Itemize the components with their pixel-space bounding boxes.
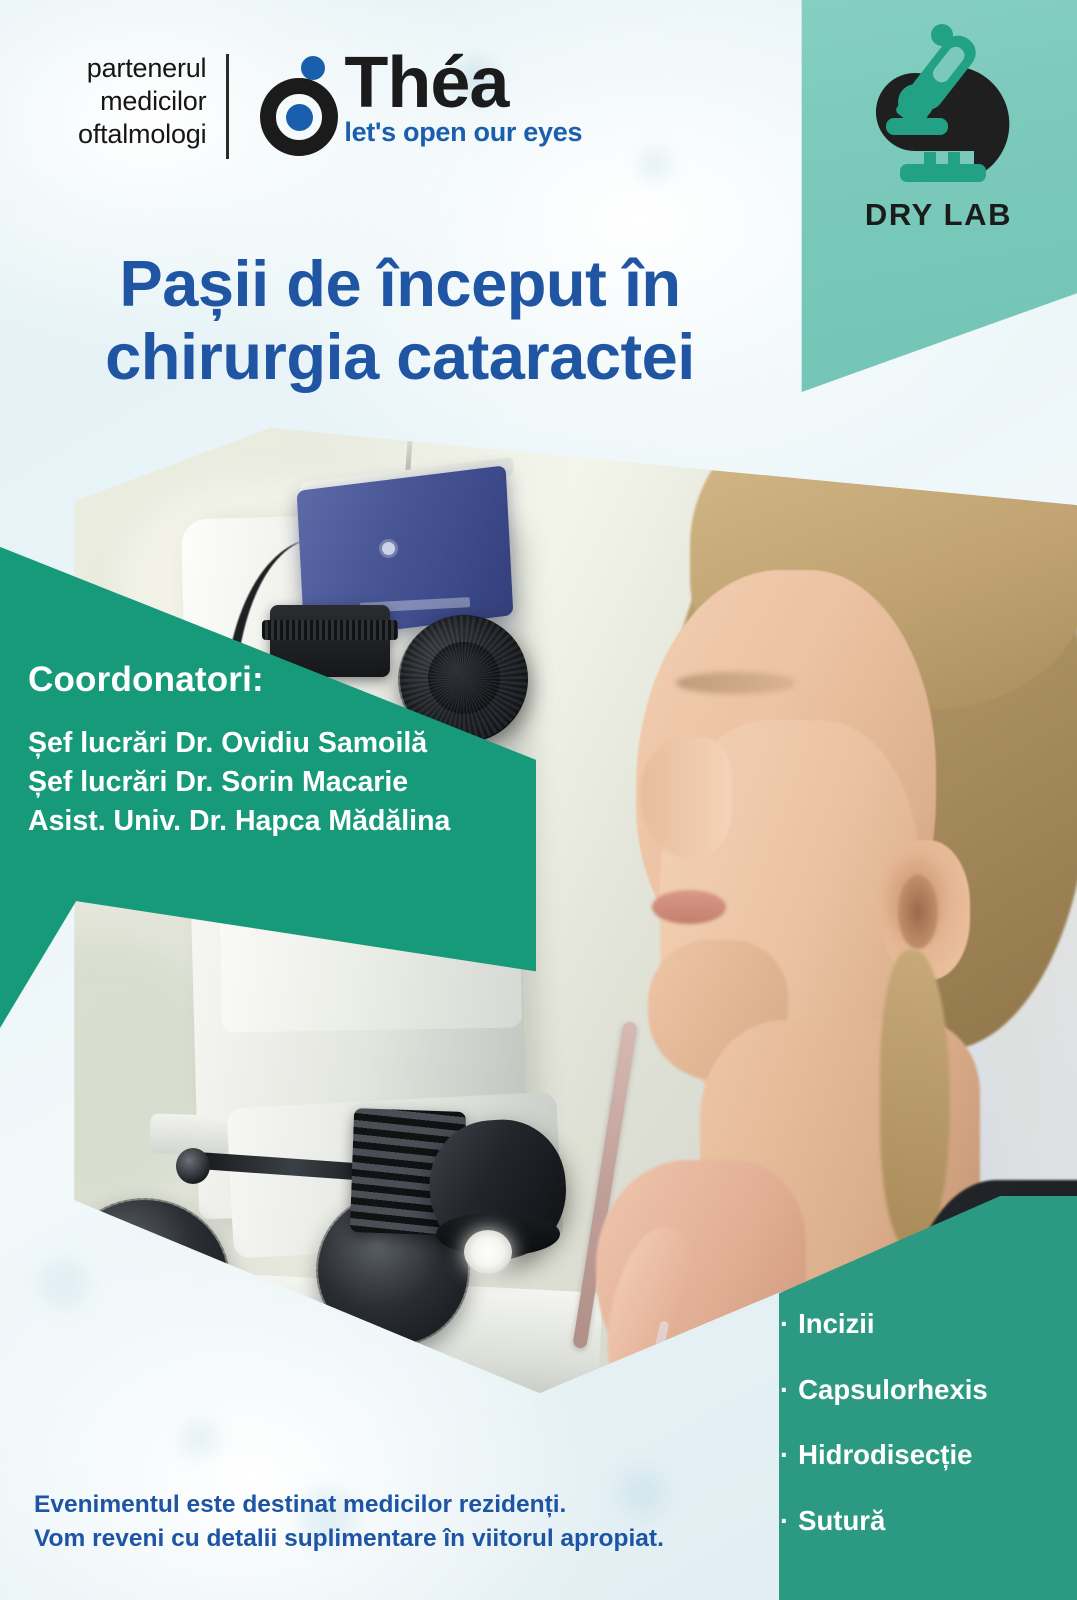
bullet-icon: · — [780, 1308, 789, 1339]
partner-line-1: partenerul — [78, 52, 206, 85]
header-logo-row: partenerul medicilor oftalmologi Théa le… — [78, 52, 582, 159]
coordinator-name: Asist. Univ. Dr. Hapca Mădălina — [28, 802, 528, 841]
step-label: Capsulorhexis — [798, 1374, 988, 1405]
partner-line-3: oftalmologi — [78, 118, 206, 151]
footer-line-1: Evenimentul este destinat medicilor rezi… — [34, 1488, 794, 1522]
dry-lab-content: DRY LAB — [800, 0, 1077, 300]
step-label: Sutură — [798, 1505, 885, 1536]
background-bokeh-dot — [180, 1420, 218, 1458]
background-bokeh-dot — [640, 150, 670, 180]
poster-canvas: DRY LAB partenerul medicilor oftalmologi… — [0, 0, 1077, 1600]
eye-spark-dot — [301, 56, 325, 80]
page-title-line-1: Pașii de început în — [0, 248, 800, 321]
dry-lab-label: DRY LAB — [865, 199, 1012, 230]
lab-blur-blob — [0, 1240, 200, 1410]
microscope-neck-ring — [262, 620, 398, 640]
thea-wordmark: Théa let's open our eyes — [344, 52, 582, 146]
bullet-icon: · — [780, 1439, 789, 1470]
thea-logo[interactable]: Théa let's open our eyes — [229, 52, 582, 157]
microscope-camera-dot — [382, 542, 395, 555]
page-title-line-2: chirurgia cataractei — [0, 321, 800, 394]
coordinators-heading: Coordonatori: — [28, 660, 528, 700]
background-bokeh-dot — [40, 1260, 88, 1308]
eye-icon — [255, 52, 348, 157]
subject-brow — [676, 672, 796, 694]
footer-line-2: Vom reveni cu detalii suplimentare în vi… — [34, 1522, 794, 1556]
footer-note: Evenimentul este destinat medicilor rezi… — [34, 1488, 794, 1556]
step-label: Incizii — [798, 1308, 874, 1339]
coordinator-name: Șef lucrări Dr. Sorin Macarie — [28, 763, 528, 802]
page-title: Pașii de început în chirurgia cataractei — [0, 248, 800, 394]
subject-hair-strand — [880, 950, 950, 1250]
thea-brand-tagline: let's open our eyes — [344, 119, 582, 146]
steps-list: ·Incizii ·Capsulorhexis ·Hidrodisecție ·… — [772, 1310, 1077, 1572]
subject-ear-inner — [898, 875, 938, 949]
bullet-icon: · — [780, 1374, 789, 1405]
partner-tagline: partenerul medicilor oftalmologi — [78, 52, 226, 151]
list-item: ·Hidrodisecție — [772, 1441, 1077, 1469]
microscope-illuminator — [464, 1230, 512, 1274]
partner-line-2: medicilor — [78, 85, 206, 118]
step-label: Hidrodisecție — [798, 1439, 972, 1470]
list-item: ·Sutură — [772, 1507, 1077, 1535]
microscope-adjust-rod-cap — [176, 1148, 210, 1184]
dry-lab-panel: DRY LAB — [800, 0, 1077, 392]
microscope-focus-knob-left — [60, 1200, 228, 1360]
coordinator-name: Șef lucrări Dr. Ovidiu Samoilă — [28, 724, 528, 763]
subject-lips — [652, 890, 726, 924]
coordinators-content: Coordonatori: Șef lucrări Dr. Ovidiu Sam… — [28, 660, 528, 840]
list-item: ·Incizii — [772, 1310, 1077, 1338]
thea-brand-name: Théa — [344, 52, 582, 115]
microscope-icon — [864, 22, 1014, 195]
list-item: ·Capsulorhexis — [772, 1376, 1077, 1404]
